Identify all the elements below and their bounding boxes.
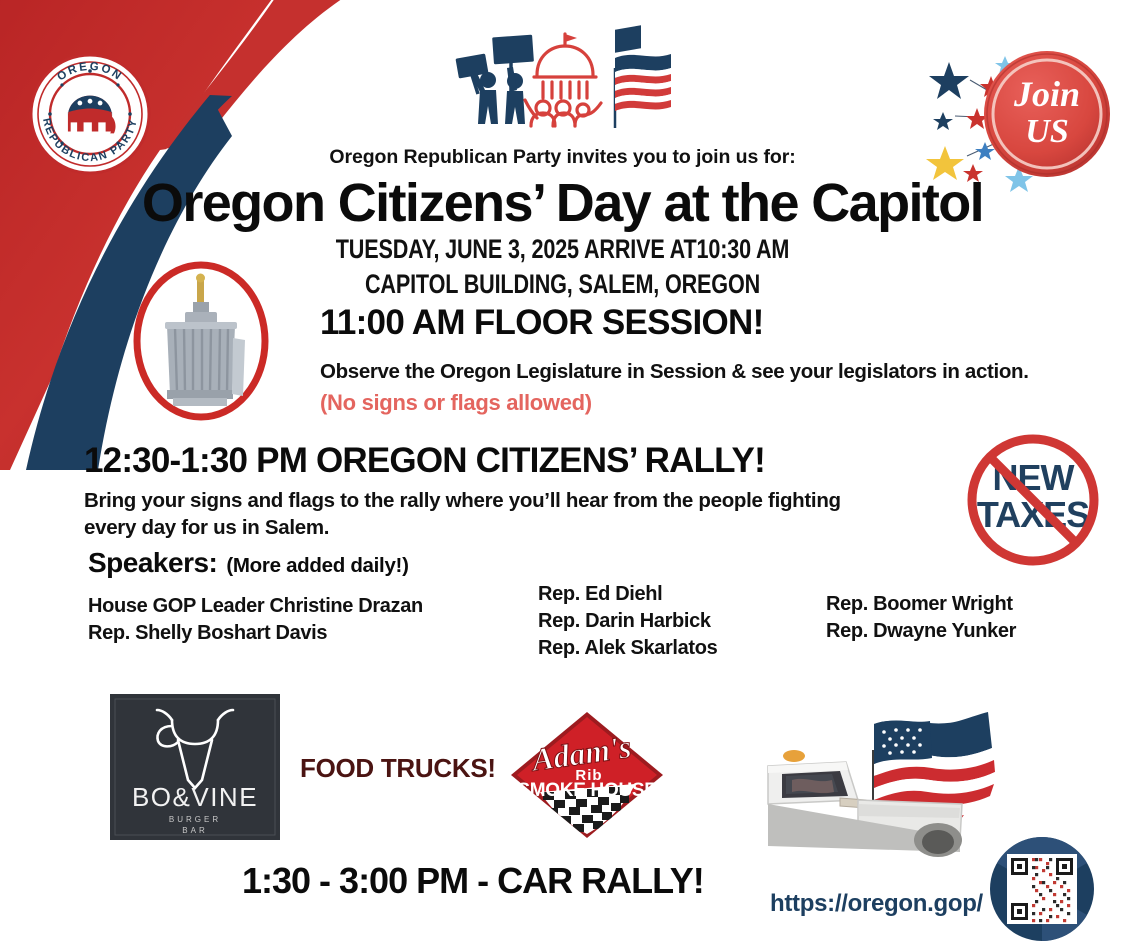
floor-session-note: (No signs or flags allowed) (320, 390, 592, 416)
adams-line3: SMOKE HOUSE (517, 780, 656, 801)
flyer-poster: OREGON REPUBLICAN PARTY (0, 0, 1125, 946)
bo-and-vine-logo: BO&VINE BURGER BAR (110, 694, 280, 840)
speaker-column-2: Rep. Ed Diehl Rep. Darin Harbick Rep. Al… (538, 581, 717, 661)
adams-rib-smoke-house-logo: Adam's Rib SMOKE HOUSE (505, 706, 670, 844)
speaker-name: Rep. Ed Diehl (538, 581, 717, 608)
bovine-tagline-1: BURGER (169, 815, 221, 824)
rally-body-line-2: every day for us in Salem. (84, 514, 914, 541)
protest-capitol-flag-illustration (455, 28, 675, 140)
speaker-name: Rep. Dwayne Yunker (826, 618, 1016, 645)
join-us-line2: US (1025, 113, 1068, 150)
speaker-name: Rep. Boomer Wright (826, 591, 1016, 618)
no-new-taxes-badge: NEW TAXES (963, 430, 1103, 570)
speaker-column-1: House GOP Leader Christine Drazan Rep. S… (88, 593, 423, 647)
floor-session-heading: 11:00 AM FLOOR SESSION! (320, 303, 764, 343)
bovine-name: BO&VINE (132, 782, 258, 812)
speaker-name: House GOP Leader Christine Drazan (88, 593, 423, 620)
protesters-icon (455, 35, 533, 124)
speaker-column-3: Rep. Boomer Wright Rep. Dwayne Yunker (826, 591, 1016, 645)
speakers-note: (More added daily!) (226, 554, 408, 577)
speaker-name: Rep. Darin Harbick (538, 608, 717, 635)
speaker-name: Rep. Alek Skarlatos (538, 635, 717, 662)
invite-line: Oregon Republican Party invites you to j… (0, 146, 1125, 169)
floor-session-subtext: Observe the Oregon Legislature in Sessio… (320, 360, 1029, 384)
capitol-dome-icon (525, 34, 601, 126)
us-flag-icon (615, 25, 671, 128)
join-us-line1: Join (1013, 74, 1080, 114)
truck-with-flag-photo (762, 712, 1022, 882)
speaker-name: Rep. Shelly Boshart Davis (88, 620, 423, 647)
capitol-dome-photo-circle (133, 262, 269, 420)
car-rally-line: 1:30 - 3:00 PM - CAR RALLY! (0, 860, 1125, 902)
rally-body-line-1: Bring your signs and flags to the rally … (84, 487, 914, 514)
speakers-heading: Speakers:(More added daily!) (88, 547, 409, 579)
food-trucks-label: FOOD TRUCKS! (300, 753, 496, 784)
page-title: Oregon Citizens’ Day at the Capitol (0, 172, 1125, 234)
bovine-tagline-2: BAR (182, 826, 207, 835)
speakers-label: Speakers: (88, 547, 217, 578)
rally-heading: 12:30-1:30 PM OREGON CITIZENS’ RALLY! (84, 441, 765, 481)
rally-body: Bring your signs and flags to the rally … (84, 487, 914, 541)
